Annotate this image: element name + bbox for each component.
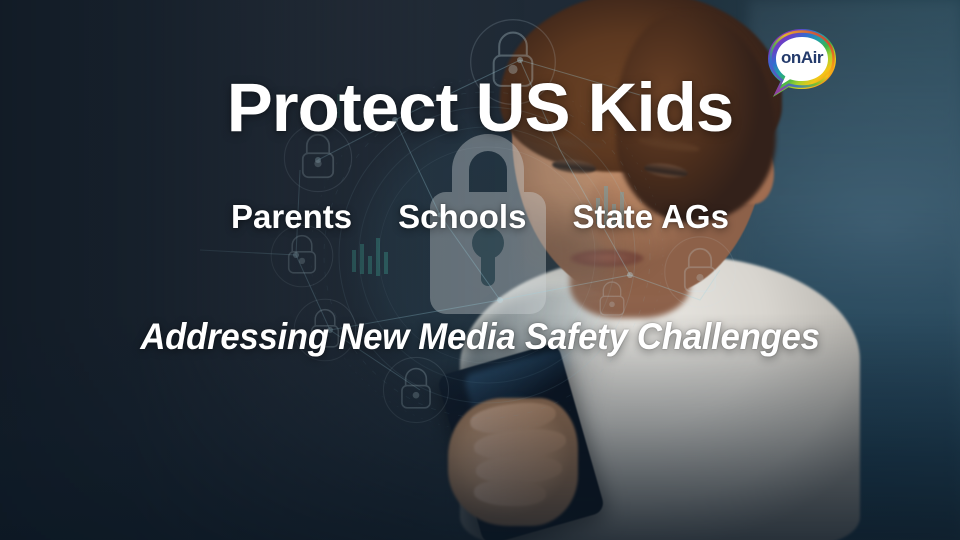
slide-canvas: Protect US Kids Parents Schools State AG… bbox=[0, 0, 960, 540]
audience-list: Parents Schools State AGs bbox=[0, 198, 960, 236]
audience-item-schools: Schools bbox=[398, 198, 526, 236]
audience-item-state-ags: State AGs bbox=[572, 198, 729, 236]
audience-item-parents: Parents bbox=[231, 198, 352, 236]
tagline: Addressing New Media Safety Challenges bbox=[29, 316, 931, 358]
onair-logo[interactable]: onAir bbox=[764, 26, 840, 100]
onair-logo-text: onAir bbox=[764, 48, 840, 68]
